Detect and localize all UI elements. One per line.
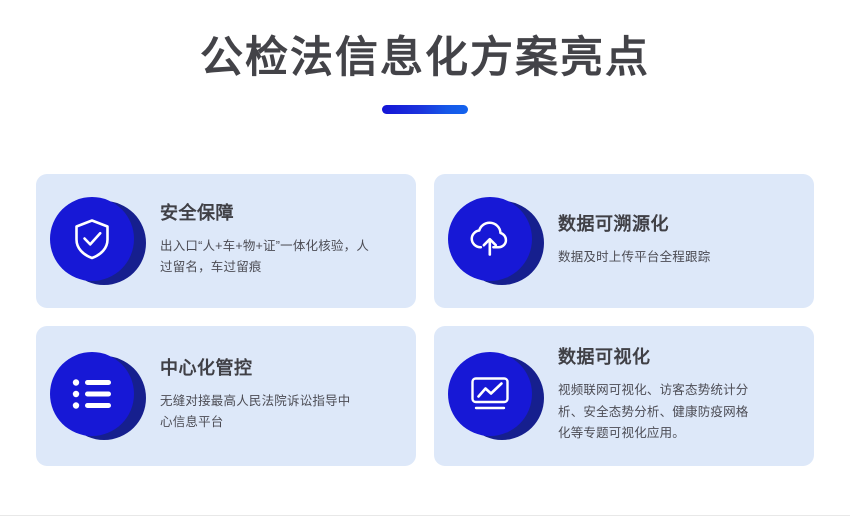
card-description: 数据及时上传平台全程跟踪	[558, 247, 796, 269]
highlight-card-centralized-control[interactable]: 中心化管控 无缝对接最高人民法院诉讼指导中心信息平台	[36, 326, 416, 466]
card-text: 安全保障 出入口“人+车+物+证”一体化核验，人过留名，车过留痕	[160, 203, 398, 279]
highlight-cards-grid: 安全保障 出入口“人+车+物+证”一体化核验，人过留名，车过留痕	[36, 174, 814, 466]
shield-check-icon	[72, 217, 112, 261]
icon-badge	[448, 349, 544, 443]
icon-badge	[50, 194, 146, 288]
card-text: 数据可视化 视频联网可视化、访客态势统计分析、安全态势分析、健康防疫网格化等专题…	[558, 347, 796, 444]
icon-badge-circle	[448, 197, 532, 281]
card-title: 数据可溯源化	[558, 214, 796, 236]
icon-badge-circle	[448, 352, 532, 436]
card-description: 出入口“人+车+物+证”一体化核验，人过留名，车过留痕	[160, 236, 375, 279]
cloud-upload-icon	[468, 218, 512, 260]
highlight-card-data-traceability[interactable]: 数据可溯源化 数据及时上传平台全程跟踪	[434, 174, 814, 308]
card-title: 数据可视化	[558, 347, 796, 369]
chart-monitor-icon	[469, 375, 511, 413]
card-text: 数据可溯源化 数据及时上传平台全程跟踪	[558, 214, 796, 268]
icon-badge	[448, 194, 544, 288]
page-header: 公检法信息化方案亮点	[0, 0, 850, 114]
card-title: 中心化管控	[160, 358, 398, 380]
highlights-page: 公检法信息化方案亮点 安全保障 出入口“人+车+物+证”一体化核	[0, 0, 850, 516]
icon-badge-circle	[50, 197, 134, 281]
highlight-card-data-visualization[interactable]: 数据可视化 视频联网可视化、访客态势统计分析、安全态势分析、健康防疫网格化等专题…	[434, 326, 814, 466]
icon-badge	[50, 349, 146, 443]
card-title: 安全保障	[160, 203, 398, 225]
card-text: 中心化管控 无缝对接最高人民法院诉讼指导中心信息平台	[160, 358, 398, 434]
title-underline-accent	[382, 105, 468, 114]
card-description: 视频联网可视化、访客态势统计分析、安全态势分析、健康防疫网格化等专题可视化应用。	[558, 380, 758, 445]
bullet-list-icon	[71, 377, 113, 411]
icon-badge-circle	[50, 352, 134, 436]
card-description: 无缝对接最高人民法院诉讼指导中心信息平台	[160, 391, 360, 434]
highlight-card-security[interactable]: 安全保障 出入口“人+车+物+证”一体化核验，人过留名，车过留痕	[36, 174, 416, 308]
page-title: 公检法信息化方案亮点	[0, 34, 850, 83]
